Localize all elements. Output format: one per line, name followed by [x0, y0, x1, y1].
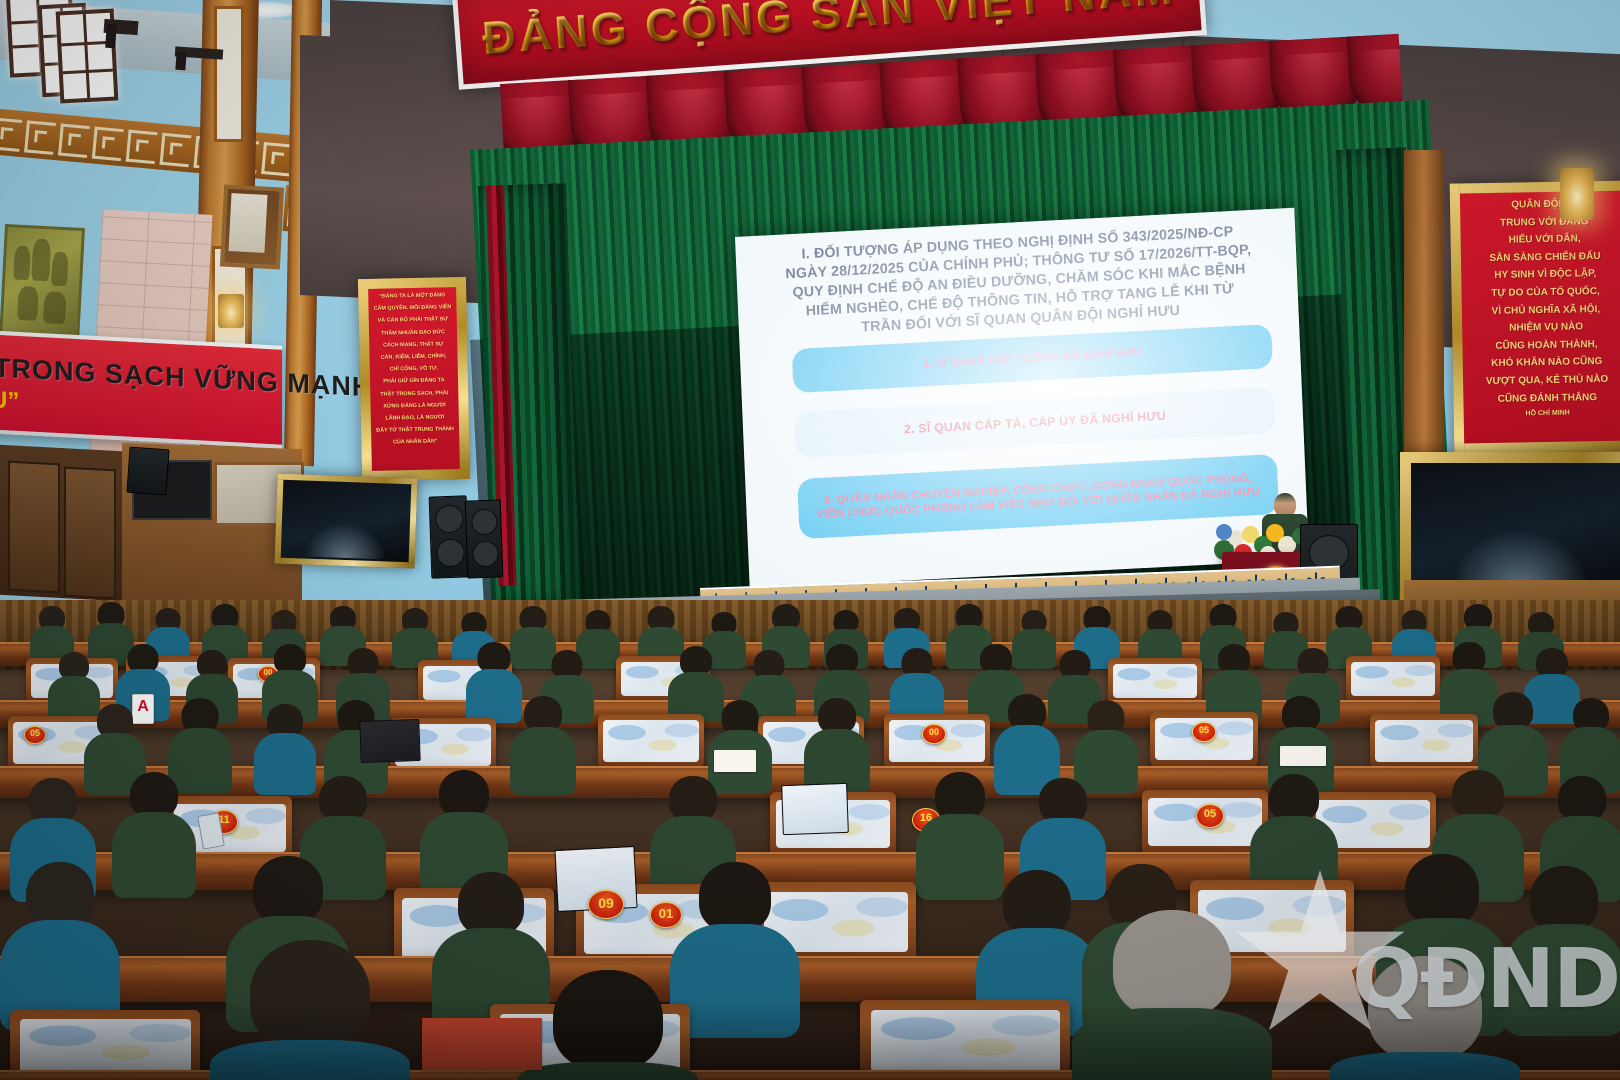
seat-back	[598, 714, 704, 768]
attendee	[518, 970, 698, 1080]
laptop	[781, 783, 849, 835]
wall-sconce	[218, 294, 244, 328]
plaque-right-attribution: HỒ CHÍ MINH	[1464, 406, 1620, 423]
seat-back	[1108, 658, 1202, 704]
seat-number-badge: 05	[1192, 722, 1216, 742]
seat-number-badge: 05	[24, 726, 46, 744]
seat-number-badge: 05	[1196, 804, 1224, 828]
pa-speaker	[126, 447, 169, 496]
conference-hall-photo: TRONG SẠCH VỮNG MẠNH, ẾU” ĐẢNG CỘNG SẢN …	[0, 0, 1620, 1080]
plaque-right: QUÂN ĐỘI TA TRUNG VỚI ĐẢNG HIẾU VỚI DÂN,…	[1450, 180, 1620, 453]
attendee	[1138, 610, 1182, 664]
wall-banner-left-text: TRONG SẠCH VỮNG MẠNH,	[0, 353, 274, 399]
pa-speaker	[429, 495, 470, 578]
attendee	[1330, 956, 1520, 1080]
attendee	[804, 698, 870, 790]
attendee	[1206, 644, 1262, 718]
attendee	[112, 772, 196, 892]
seat-back	[1346, 656, 1440, 702]
plaque-right-line: TỰ DO CỦA TỔ QUỐC,	[1461, 283, 1620, 304]
relief-sculpture	[0, 224, 85, 344]
plaque-left: “ĐẢNG TA LÀ MỘT ĐẢNG CẦM QUYỀN. MỖI ĐẢNG…	[358, 277, 470, 481]
plaque-right-line: VÌ CHỦ NGHĨA XÃ HỘI,	[1462, 300, 1620, 321]
slide-box-3: 3. QUÂN NHÂN CHUYÊN NGHIỆP, CÔNG CHỨC, C…	[797, 454, 1279, 539]
wall-banner-left-text2: ẾU”	[0, 386, 19, 416]
attendee	[1250, 774, 1338, 894]
plaque-right-line: VƯỢT QUA, KẺ THÙ NÀO	[1463, 370, 1620, 391]
seat-number-badge: 00	[922, 724, 946, 744]
plaque-left-line: THẤM NHUẦN ĐẠO ĐỨC	[369, 326, 457, 340]
attendee	[1074, 700, 1138, 790]
pa-speaker	[465, 499, 504, 578]
seat-back	[1370, 714, 1478, 768]
audience-seating-area: 00 05 00 05 A	[0, 600, 1620, 1080]
hall-window	[56, 9, 119, 104]
attendee	[0, 862, 120, 1022]
wall-display-left	[274, 474, 417, 569]
plaque-left-line: ĐẦY TỚ THẬT TRUNG THÀNH	[371, 423, 459, 437]
plaque-left-line: CỦA NHÂN DÂN”	[371, 436, 459, 450]
attendee	[210, 940, 410, 1080]
slide-box-2-label: 2. SĨ QUAN CẤP TÁ, CẤP ÚY ĐÃ NGHỈ HƯU	[904, 409, 1167, 437]
slide-box-1-label: 1. SĨ QUAN CẤP TƯỚNG ĐÃ NGHỈ HƯU	[922, 346, 1142, 371]
slide-box-2: 2. SĨ QUAN CẤP TÁ, CẤP ÚY ĐÃ NGHỈ HƯU	[794, 387, 1275, 458]
attendee	[510, 696, 576, 790]
plaque-right-line: SẴN SÀNG CHIẾN ĐẤU	[1461, 247, 1620, 268]
paper-document	[714, 750, 756, 772]
attendee	[1504, 866, 1620, 1026]
slide-box-3-label: 3. QUÂN NHÂN CHUYÊN NGHIỆP, CÔNG CHỨC, C…	[814, 471, 1263, 522]
seat-back	[860, 1000, 1070, 1080]
column-panel	[214, 6, 244, 142]
laptop	[359, 719, 420, 763]
attendee	[890, 648, 944, 718]
attendee	[1072, 910, 1272, 1080]
plaque-right-line: CŨNG ĐÁNH THẮNG	[1463, 388, 1620, 409]
seat-number-badge: 09	[588, 890, 624, 919]
paper-document	[422, 1018, 542, 1070]
wall-display-right	[1400, 452, 1620, 602]
plaque-left-line: CẦN, KIỆM, LIÊM, CHÍNH,	[369, 350, 457, 364]
slide-title: I. ĐỐI TƯỢNG ÁP DỤNG THEO NGHỊ ĐỊNH SỐ 3…	[753, 220, 1284, 343]
attendee	[392, 608, 438, 664]
wall-banner-left: TRONG SẠCH VỮNG MẠNH, ẾU”	[0, 330, 282, 449]
plaque-left-line: XỨNG ĐÁNG LÀ NGƯỜI	[370, 399, 458, 413]
paper-document	[1280, 746, 1326, 766]
wall-lantern	[1560, 168, 1594, 220]
